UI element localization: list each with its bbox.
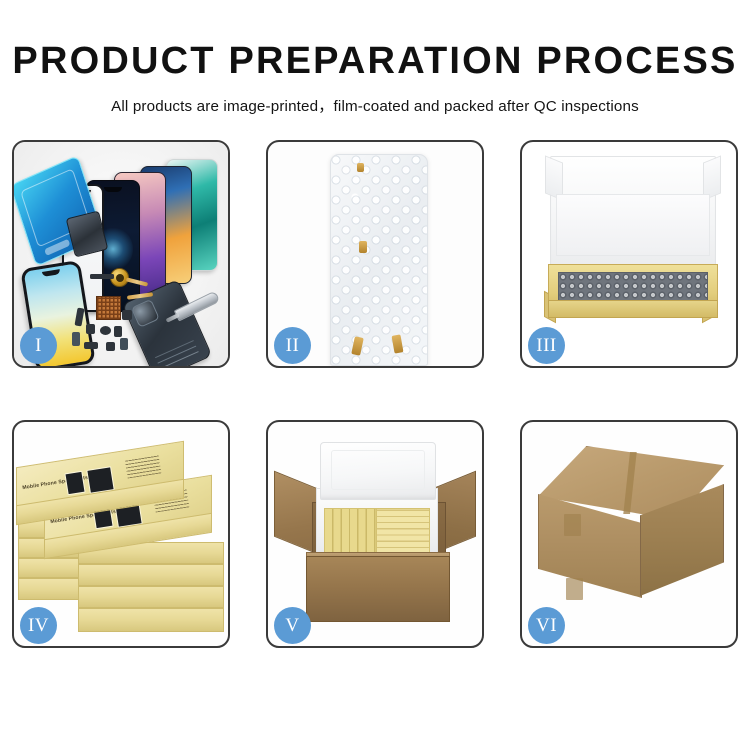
- small-part-e: [84, 342, 98, 349]
- step-badge-3: III: [528, 327, 565, 364]
- kraft-box-front-wall: [548, 300, 718, 318]
- product-preparation-infographic: PRODUCT PREPARATION PROCESS All products…: [0, 0, 750, 750]
- copper-mesh-part: [96, 296, 121, 320]
- process-step-grid: I II: [12, 140, 738, 676]
- panel-step-2: II: [266, 140, 484, 368]
- small-part-c: [114, 326, 122, 337]
- gold-tab-top: [357, 163, 364, 172]
- panel-step-6: VI: [520, 420, 738, 648]
- carton-tape-upper: [564, 514, 581, 536]
- carton-tape-lower: [566, 578, 583, 600]
- page-subtitle: All products are image-printed，film-coat…: [0, 94, 750, 116]
- small-part-g: [122, 310, 132, 320]
- small-part-camera: [120, 338, 128, 350]
- page-title: PRODUCT PREPARATION PROCESS: [0, 42, 750, 82]
- small-part-strip: [90, 274, 114, 279]
- box-stack-scene: Mobile Phone Spare Parts Mobile Phone Sp…: [14, 422, 228, 646]
- gold-tab-mid: [359, 241, 367, 253]
- kraft-boxes-inside-b: [376, 508, 430, 554]
- step-badge-2: II: [274, 327, 311, 364]
- step-badge-4: IV: [20, 607, 57, 644]
- step-badge-5: V: [274, 607, 311, 644]
- small-part-speaker: [100, 326, 111, 335]
- small-part-b: [86, 324, 95, 334]
- header: PRODUCT PREPARATION PROCESS All products…: [0, 0, 750, 116]
- step-badge-6: VI: [528, 607, 565, 644]
- panel-step-4: Mobile Phone Spare Parts Mobile Phone Sp…: [12, 420, 230, 648]
- bubble-wrap-scene: II: [268, 142, 482, 366]
- stacked-box-r4: [78, 608, 224, 632]
- bubble-texture: [331, 155, 427, 365]
- panel-step-3: III: [520, 140, 738, 368]
- panel-step-1: I: [12, 140, 230, 368]
- stacked-box-r2: [78, 564, 224, 586]
- box-window-1a: [64, 471, 85, 496]
- foam-box-lid: [320, 442, 436, 500]
- bubble-wrapped-contents: [558, 272, 708, 302]
- carton-front-wall: [306, 556, 450, 622]
- stacked-box-r3: [78, 586, 224, 608]
- foam-insert-sheet: [556, 194, 710, 256]
- sealed-carton-scene: VI: [522, 422, 736, 646]
- foam-carton-scene: V: [268, 422, 482, 646]
- small-part-f: [106, 342, 115, 351]
- small-part-h: [72, 332, 80, 346]
- panel-step-5: V: [266, 420, 484, 648]
- inner-box-scene: III: [522, 142, 736, 366]
- step-badge-1: I: [20, 327, 57, 364]
- bubble-wrap-bag: [330, 154, 428, 366]
- products-scene: I: [14, 142, 228, 366]
